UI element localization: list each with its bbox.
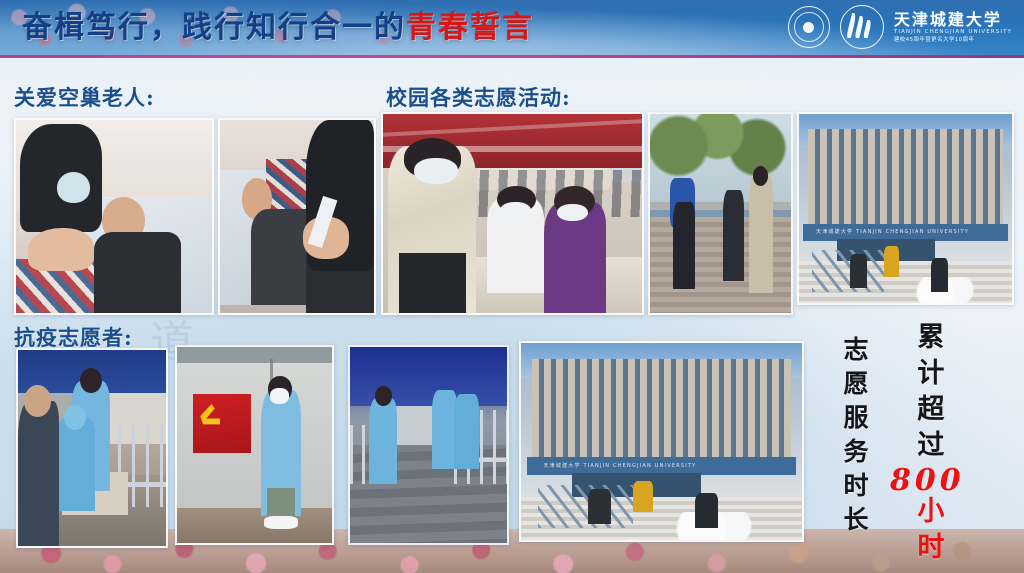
photo-elderly-companionship — [218, 118, 376, 315]
photo-testing-corridor — [348, 345, 509, 545]
photo-content — [220, 120, 374, 313]
photo-content: 天津城建大学 TIANJIN CHENGJIAN UNIVERSITY — [521, 343, 802, 540]
photo-party-flag-volunteer — [175, 345, 334, 545]
building-sign-text: 天津城建大学 TIANJIN CHENGJIAN UNIVERSITY — [816, 226, 995, 239]
page-title: 奋楫笃行，践行知行合一的青春誓言 — [22, 6, 534, 50]
page-title-main: 奋楫笃行，践行知行合一的 — [22, 10, 406, 45]
stat-label-column: 志愿服务时长 — [842, 336, 867, 540]
stat-prefix: 累计超过 — [912, 322, 943, 466]
university-name-cn: 天津城建大学 — [894, 11, 1012, 28]
photo-content — [383, 114, 642, 313]
photo-campus-booth — [381, 112, 644, 315]
presentation-slide: 奋楫笃行，践行知行合一的青春誓言 天津城建大学 TIANJIN CHENGJIA… — [0, 0, 1024, 573]
page-title-accent: 青春誓言 — [406, 10, 534, 45]
university-seal-icon — [788, 6, 830, 48]
header-divider — [0, 55, 1024, 58]
photo-testing-registration — [16, 348, 168, 548]
photo-content — [177, 347, 332, 543]
university-name-block: 天津城建大学 TIANJIN CHENGJIAN UNIVERSITY 建校45… — [894, 11, 1012, 44]
photo-content — [18, 350, 166, 546]
photo-elderly-massage — [14, 118, 214, 315]
photo-campus-road — [648, 112, 793, 315]
stat-value-column: 累计超过800小时 — [890, 322, 965, 568]
photo-content: 天津城建大学 TIANJIN CHENGJIAN UNIVERSITY — [799, 114, 1012, 303]
photo-snow-clearing: 天津城建大学 TIANJIN CHENGJIAN UNIVERSITY — [519, 341, 804, 542]
section-label-elderly-care: 关爱空巢老人: — [14, 82, 155, 112]
stat-unit: 小时 — [912, 496, 943, 568]
building-sign-text: 天津城建大学 TIANJIN CHENGJIAN UNIVERSITY — [543, 459, 779, 473]
photo-main-building-winter: 天津城建大学 TIANJIN CHENGJIAN UNIVERSITY — [797, 112, 1014, 305]
section-label-campus-volunteering: 校园各类志愿活动: — [386, 82, 571, 112]
section-label-epidemic-volunteers: 抗疫志愿者: — [14, 322, 133, 352]
sail-logo-icon — [840, 5, 884, 49]
photo-content — [16, 120, 212, 313]
university-name-en: TIANJIN CHENGJIAN UNIVERSITY — [894, 29, 1012, 36]
anniversary-text: 建校45周年暨更名大学10周年 — [894, 37, 1012, 44]
stat-number: 800 — [890, 466, 965, 496]
university-logo-group: 天津城建大学 TIANJIN CHENGJIAN UNIVERSITY 建校45… — [788, 5, 1012, 49]
photo-content — [650, 114, 791, 313]
photo-content — [350, 347, 507, 543]
